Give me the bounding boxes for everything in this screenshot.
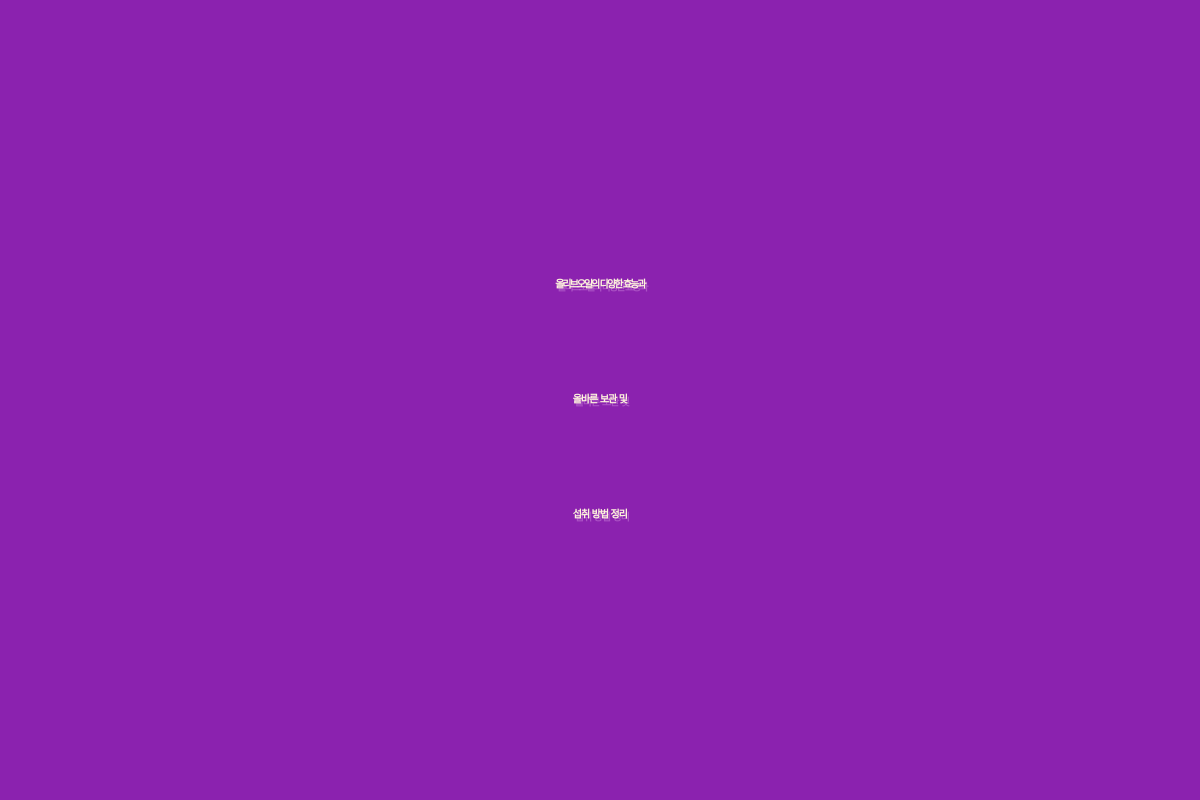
title-line-2: 올바른 보관 및 bbox=[10, 342, 1190, 457]
title-line-1: 올리브오일의 다양한 효능과 bbox=[10, 227, 1190, 342]
thumbnail-card: 올리브오일의 다양한 효능과 올바른 보관 및 섭취 방법 정리 bbox=[0, 0, 1200, 800]
title-line-3: 섭취 방법 정리 bbox=[10, 457, 1190, 572]
page-title: 올리브오일의 다양한 효능과 올바른 보관 및 섭취 방법 정리 bbox=[0, 227, 1200, 572]
